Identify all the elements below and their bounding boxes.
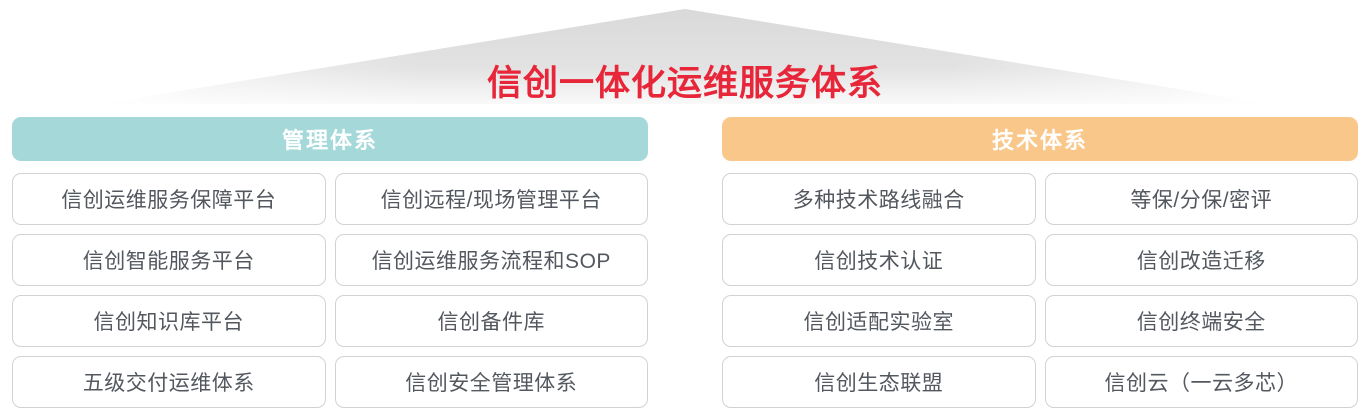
cell-item[interactable]: 信创改造迁移 bbox=[1045, 234, 1359, 286]
grid-row: 五级交付运维体系 信创安全管理体系 bbox=[12, 356, 648, 408]
grid-row: 信创知识库平台 信创备件库 bbox=[12, 295, 648, 347]
grid-row: 多种技术路线融合 等保/分保/密评 bbox=[722, 173, 1358, 225]
grid-row: 信创智能服务平台 信创运维服务流程和SOP bbox=[12, 234, 648, 286]
cell-item[interactable]: 信创智能服务平台 bbox=[12, 234, 326, 286]
cell-item[interactable]: 信创运维服务流程和SOP bbox=[335, 234, 649, 286]
grid-row: 信创生态联盟 信创云（一云多芯） bbox=[722, 356, 1358, 408]
cell-item[interactable]: 信创远程/现场管理平台 bbox=[335, 173, 649, 225]
cell-item[interactable]: 多种技术路线融合 bbox=[722, 173, 1036, 225]
cell-item[interactable]: 信创备件库 bbox=[335, 295, 649, 347]
cell-item[interactable]: 等保/分保/密评 bbox=[1045, 173, 1359, 225]
cell-item[interactable]: 信创终端安全 bbox=[1045, 295, 1359, 347]
panels-container: 管理体系 信创运维服务保障平台 信创远程/现场管理平台 信创智能服务平台 信创运… bbox=[0, 117, 1370, 418]
panel-header-technical: 技术体系 bbox=[722, 117, 1358, 161]
diagram-canvas: 信创一体化运维服务体系 管理体系 信创运维服务保障平台 信创远程/现场管理平台 … bbox=[0, 0, 1370, 418]
grid-row: 信创技术认证 信创改造迁移 bbox=[722, 234, 1358, 286]
panel-management: 管理体系 信创运维服务保障平台 信创远程/现场管理平台 信创智能服务平台 信创运… bbox=[12, 117, 648, 408]
grid-technical: 多种技术路线融合 等保/分保/密评 信创技术认证 信创改造迁移 信创适配实验室 … bbox=[722, 173, 1358, 408]
cell-item[interactable]: 信创适配实验室 bbox=[722, 295, 1036, 347]
cell-item[interactable]: 信创生态联盟 bbox=[722, 356, 1036, 408]
cell-item[interactable]: 信创技术认证 bbox=[722, 234, 1036, 286]
cell-item[interactable]: 信创安全管理体系 bbox=[335, 356, 649, 408]
grid-row: 信创运维服务保障平台 信创远程/现场管理平台 bbox=[12, 173, 648, 225]
cell-item[interactable]: 信创知识库平台 bbox=[12, 295, 326, 347]
grid-row: 信创适配实验室 信创终端安全 bbox=[722, 295, 1358, 347]
cell-item[interactable]: 五级交付运维体系 bbox=[12, 356, 326, 408]
cell-item[interactable]: 信创云（一云多芯） bbox=[1045, 356, 1359, 408]
panel-technical: 技术体系 多种技术路线融合 等保/分保/密评 信创技术认证 信创改造迁移 信创适… bbox=[722, 117, 1358, 408]
page-title: 信创一体化运维服务体系 bbox=[0, 55, 1370, 106]
panel-header-management: 管理体系 bbox=[12, 117, 648, 161]
cell-item[interactable]: 信创运维服务保障平台 bbox=[12, 173, 326, 225]
grid-management: 信创运维服务保障平台 信创远程/现场管理平台 信创智能服务平台 信创运维服务流程… bbox=[12, 173, 648, 408]
